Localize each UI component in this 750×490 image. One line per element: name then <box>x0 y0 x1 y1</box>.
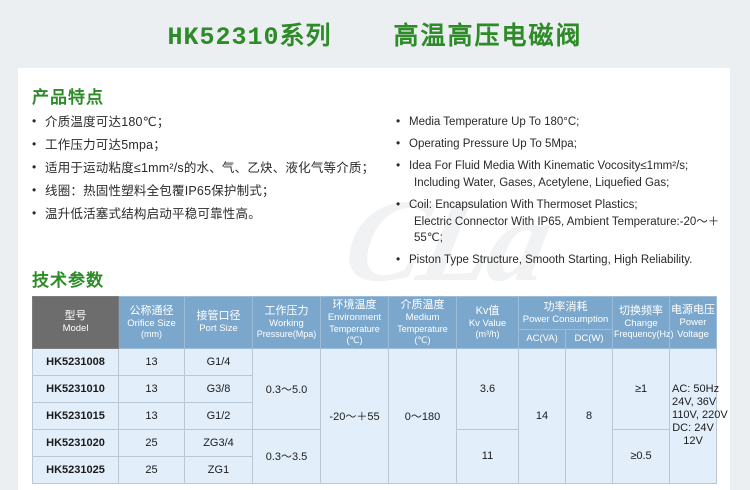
header-cn: 公称通径 <box>120 305 183 318</box>
features-list-chinese: 介质温度可达180℃； 工作压力可达5mpa； 适用于运动粘度≤1mm²/s的水… <box>32 114 396 223</box>
header-cn: Kv值 <box>458 305 517 318</box>
header-unit: (m³/h) <box>458 329 517 340</box>
col-header-kv-value: Kv值 Kv Value (m³/h) <box>457 297 519 349</box>
list-item: Coil: Encapsulation With Thermoset Plast… <box>396 197 730 246</box>
cell-freq-bottom: ≥0.5 <box>613 429 670 483</box>
col-header-change-frequency: 切换频率 Change Frequency(Hz) <box>613 297 670 349</box>
header-en: Environment <box>322 312 387 324</box>
cell-model: HK5231008 <box>33 348 119 375</box>
header-en: Orifice Size <box>120 318 183 330</box>
header-unit: Pressure(Mpa) <box>254 329 319 340</box>
cell-orifice: 25 <box>119 456 185 483</box>
voltage-line: 110V, 220V <box>672 409 714 422</box>
list-item-main: Media Temperature Up To 180°C; <box>409 116 579 128</box>
cell-model: HK5231020 <box>33 429 119 456</box>
table-row: HK5231008 13 G1/4 0.3～5.0 -20～＋55 0～180 … <box>33 348 717 375</box>
header-unit: Temperature <box>322 324 387 335</box>
specs-table-wrapper: 型号 Model 公称通径 Orifice Size (mm) 接管口径 Por… <box>32 296 716 484</box>
header-cn: 电源电压 <box>671 304 715 317</box>
col-header-orifice-size: 公称通径 Orifice Size (mm) <box>119 297 185 349</box>
cell-kv-bottom: 11 <box>457 429 519 483</box>
cell-orifice: 13 <box>119 375 185 402</box>
header-unit: (mm) <box>120 329 183 340</box>
cell-freq-top: ≥1 <box>613 348 670 429</box>
cell-dc-w: 8 <box>566 348 613 483</box>
page-title-name: 高温高压电磁阀 <box>394 16 583 52</box>
col-header-power-consumption: 功率消耗 Power Consumption <box>519 297 613 330</box>
header-cn: 工作压力 <box>254 305 319 318</box>
voltage-line: AC: 50Hz <box>672 383 714 396</box>
cell-orifice: 13 <box>119 402 185 429</box>
col-header-working-pressure: 工作压力 Working Pressure(Mpa) <box>253 297 321 349</box>
page-title-bar: HK52310系列 高温高压电磁阀 <box>0 0 750 68</box>
features-column-english: Media Temperature Up To 180°C; Operating… <box>396 114 730 274</box>
page-title-model: HK52310系列 <box>167 16 331 52</box>
header-en: Model <box>34 323 117 335</box>
voltage-line: 24V, 36V <box>672 396 714 409</box>
cell-model: HK5231010 <box>33 375 119 402</box>
header-cn: 功率消耗 <box>520 301 611 314</box>
cell-port: ZG1 <box>185 456 253 483</box>
cell-working-pressure-top: 0.3～5.0 <box>253 348 321 429</box>
cell-environment-temp: -20～＋55 <box>321 348 389 483</box>
header-unit2: (℃) <box>390 335 455 346</box>
list-item: Piston Type Structure, Smooth Starting, … <box>396 252 730 268</box>
col-header-power-voltage: 电源电压 Power Voltage <box>670 297 717 349</box>
cell-kv-top: 3.6 <box>457 348 519 429</box>
specs-header-row-1: 型号 Model 公称通径 Orifice Size (mm) 接管口径 Por… <box>33 297 717 330</box>
features-heading: 产品特点 <box>32 83 104 108</box>
header-cn: 介质温度 <box>390 299 455 312</box>
header-en: Port Size <box>186 323 251 335</box>
col-header-environment-temperature: 环境温度 Environment Temperature (℃) <box>321 297 389 349</box>
header-unit: Frequency(Hz) <box>614 329 668 340</box>
header-unit: Temperature <box>390 324 455 335</box>
list-item: 温升低活塞式结构启动平稳可靠性高。 <box>32 206 396 223</box>
header-cn: 型号 <box>34 310 117 323</box>
list-item: Operating Pressure Up To 5Mpa; <box>396 136 730 152</box>
header-en: Medium <box>390 312 455 324</box>
header-unit2: (℃) <box>322 335 387 346</box>
list-item: 适用于运动粘度≤1mm²/s的水、气、乙炔、液化气等介质； <box>32 160 396 177</box>
col-header-medium-temperature: 介质温度 Medium Temperature (℃) <box>389 297 457 349</box>
specs-table: 型号 Model 公称通径 Orifice Size (mm) 接管口径 Por… <box>32 296 717 484</box>
header-cn: 接管口径 <box>186 310 251 323</box>
cell-model: HK5231025 <box>33 456 119 483</box>
features-list-english: Media Temperature Up To 180°C; Operating… <box>396 114 730 268</box>
header-en: Power Consumption <box>520 314 611 326</box>
header-en: Working <box>254 318 319 330</box>
list-item-sub: Electric Connector With IP65, Ambient Te… <box>409 214 730 246</box>
header-en: AC(VA) <box>520 333 564 345</box>
list-item: 线圈：热固性塑料全包覆IP65保护制式； <box>32 183 396 200</box>
features-section: 介质温度可达180℃； 工作压力可达5mpa； 适用于运动粘度≤1mm²/s的水… <box>18 114 730 274</box>
col-header-dc-w: DC(W) <box>566 330 613 348</box>
list-item-main: Piston Type Structure, Smooth Starting, … <box>409 254 692 266</box>
list-item: Media Temperature Up To 180°C; <box>396 114 730 130</box>
list-item: 工作压力可达5mpa； <box>32 137 396 154</box>
header-en: Power Voltage <box>671 317 715 340</box>
cell-ac-va: 14 <box>519 348 566 483</box>
list-item: Idea For Fluid Media With Kinematic Voco… <box>396 158 730 191</box>
voltage-line: DC: 24V <box>672 422 714 435</box>
voltage-line: 12V <box>672 435 714 448</box>
cell-working-pressure-bottom: 0.3～3.5 <box>253 429 321 483</box>
header-en: Kv Value <box>458 318 517 330</box>
list-item-sub: Including Water, Gases, Acetylene, Lique… <box>409 175 730 191</box>
list-item: 介质温度可达180℃； <box>32 114 396 131</box>
cell-port: G1/2 <box>185 402 253 429</box>
features-column-chinese: 介质温度可达180℃； 工作压力可达5mpa； 适用于运动粘度≤1mm²/s的水… <box>18 114 396 274</box>
cell-port: G1/4 <box>185 348 253 375</box>
header-en: DC(W) <box>567 333 611 345</box>
col-header-port-size: 接管口径 Port Size <box>185 297 253 349</box>
header-en: Change <box>614 318 668 330</box>
col-header-ac-va: AC(VA) <box>519 330 566 348</box>
content-panel: CLa 产品特点 介质温度可达180℃； 工作压力可达5mpa； 适用于运动粘度… <box>18 68 730 490</box>
list-item-main: Idea For Fluid Media With Kinematic Voco… <box>409 160 688 172</box>
cell-port: G3/8 <box>185 375 253 402</box>
cell-orifice: 25 <box>119 429 185 456</box>
header-cn: 切换频率 <box>614 305 668 318</box>
specs-heading: 技术参数 <box>32 266 104 291</box>
list-item-main: Coil: Encapsulation With Thermoset Plast… <box>409 199 638 211</box>
cell-model: HK5231015 <box>33 402 119 429</box>
cell-orifice: 13 <box>119 348 185 375</box>
header-cn: 环境温度 <box>322 299 387 312</box>
cell-power-voltage: AC: 50Hz 24V, 36V 110V, 220V DC: 24V 12V <box>670 348 717 483</box>
cell-medium-temp: 0～180 <box>389 348 457 483</box>
cell-port: ZG3/4 <box>185 429 253 456</box>
col-header-model: 型号 Model <box>33 297 119 349</box>
list-item-main: Operating Pressure Up To 5Mpa; <box>409 138 577 150</box>
